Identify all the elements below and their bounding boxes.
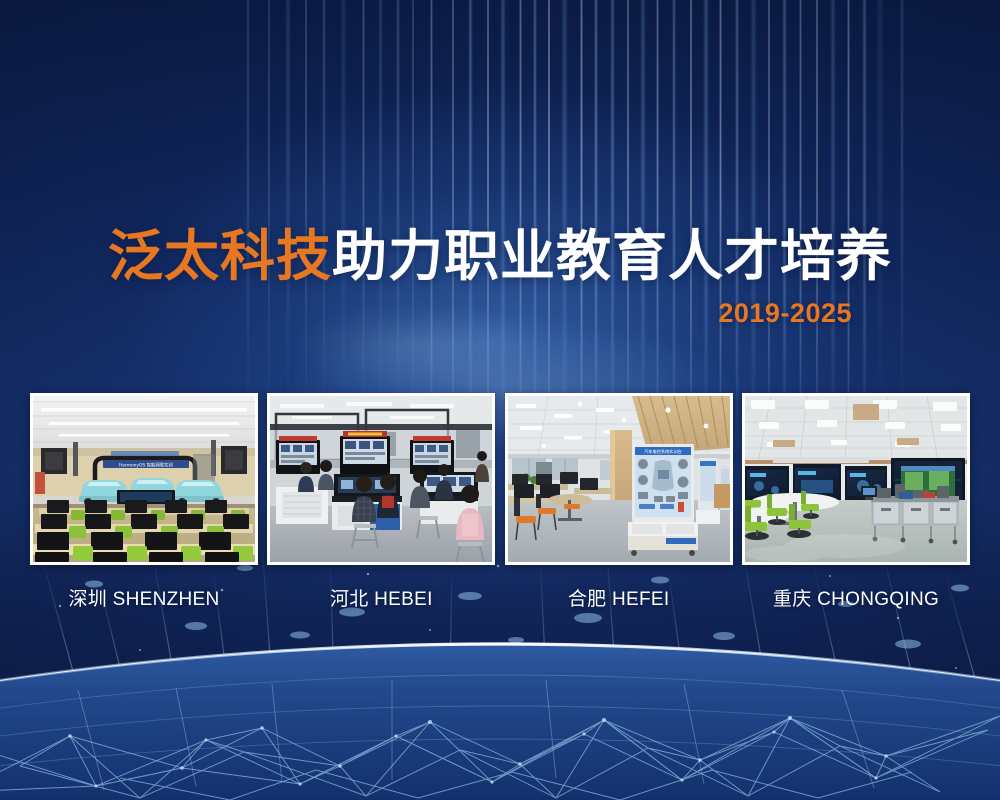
caption-chongqing: 重庆 CHONGQING bbox=[742, 584, 970, 611]
shenzhen-lab-photo: HarmonyOS 智能网联实训 bbox=[33, 396, 255, 562]
poster-canvas: 泛太科技助力职业教育人才培养 2019-2025 bbox=[0, 0, 1000, 800]
photo-card-hebei[interactable] bbox=[267, 393, 495, 565]
caption-row: 深圳 SHENZHEN 河北 HEBEI 合肥 HEFEI 重庆 CHONGQI… bbox=[30, 584, 970, 611]
title-block: 泛太科技助力职业教育人才培养 2019-2025 bbox=[0, 228, 1000, 329]
title-brand: 泛太科技 bbox=[108, 225, 332, 287]
photo-card-shenzhen[interactable]: HarmonyOS 智能网联实训 bbox=[30, 393, 258, 565]
photo-card-chongqing[interactable] bbox=[742, 393, 970, 565]
caption-hebei: 河北 HEBEI bbox=[267, 584, 495, 611]
hefei-lab-photo: 汽车电控系统实训台 bbox=[508, 396, 730, 562]
svg-text:HarmonyOS 智能网联实训: HarmonyOS 智能网联实训 bbox=[119, 462, 174, 469]
globe-network-graphic bbox=[0, 540, 1000, 800]
year-range-label: 2019-2025 bbox=[0, 298, 852, 329]
caption-hefei: 合肥 HEFEI bbox=[505, 584, 733, 611]
chongqing-lab-photo bbox=[745, 396, 967, 562]
page-title: 泛太科技助力职业教育人才培养 bbox=[0, 228, 1000, 286]
svg-text:汽车电控系统实训台: 汽车电控系统实训台 bbox=[644, 448, 682, 455]
photo-card-hefei[interactable]: 汽车电控系统实训台 bbox=[505, 393, 733, 565]
photo-gallery: HarmonyOS 智能网联实训 bbox=[30, 393, 970, 565]
title-tagline: 助力职业教育人才培养 bbox=[332, 225, 892, 287]
caption-shenzhen: 深圳 SHENZHEN bbox=[30, 584, 258, 611]
hebei-lab-photo bbox=[270, 396, 492, 562]
